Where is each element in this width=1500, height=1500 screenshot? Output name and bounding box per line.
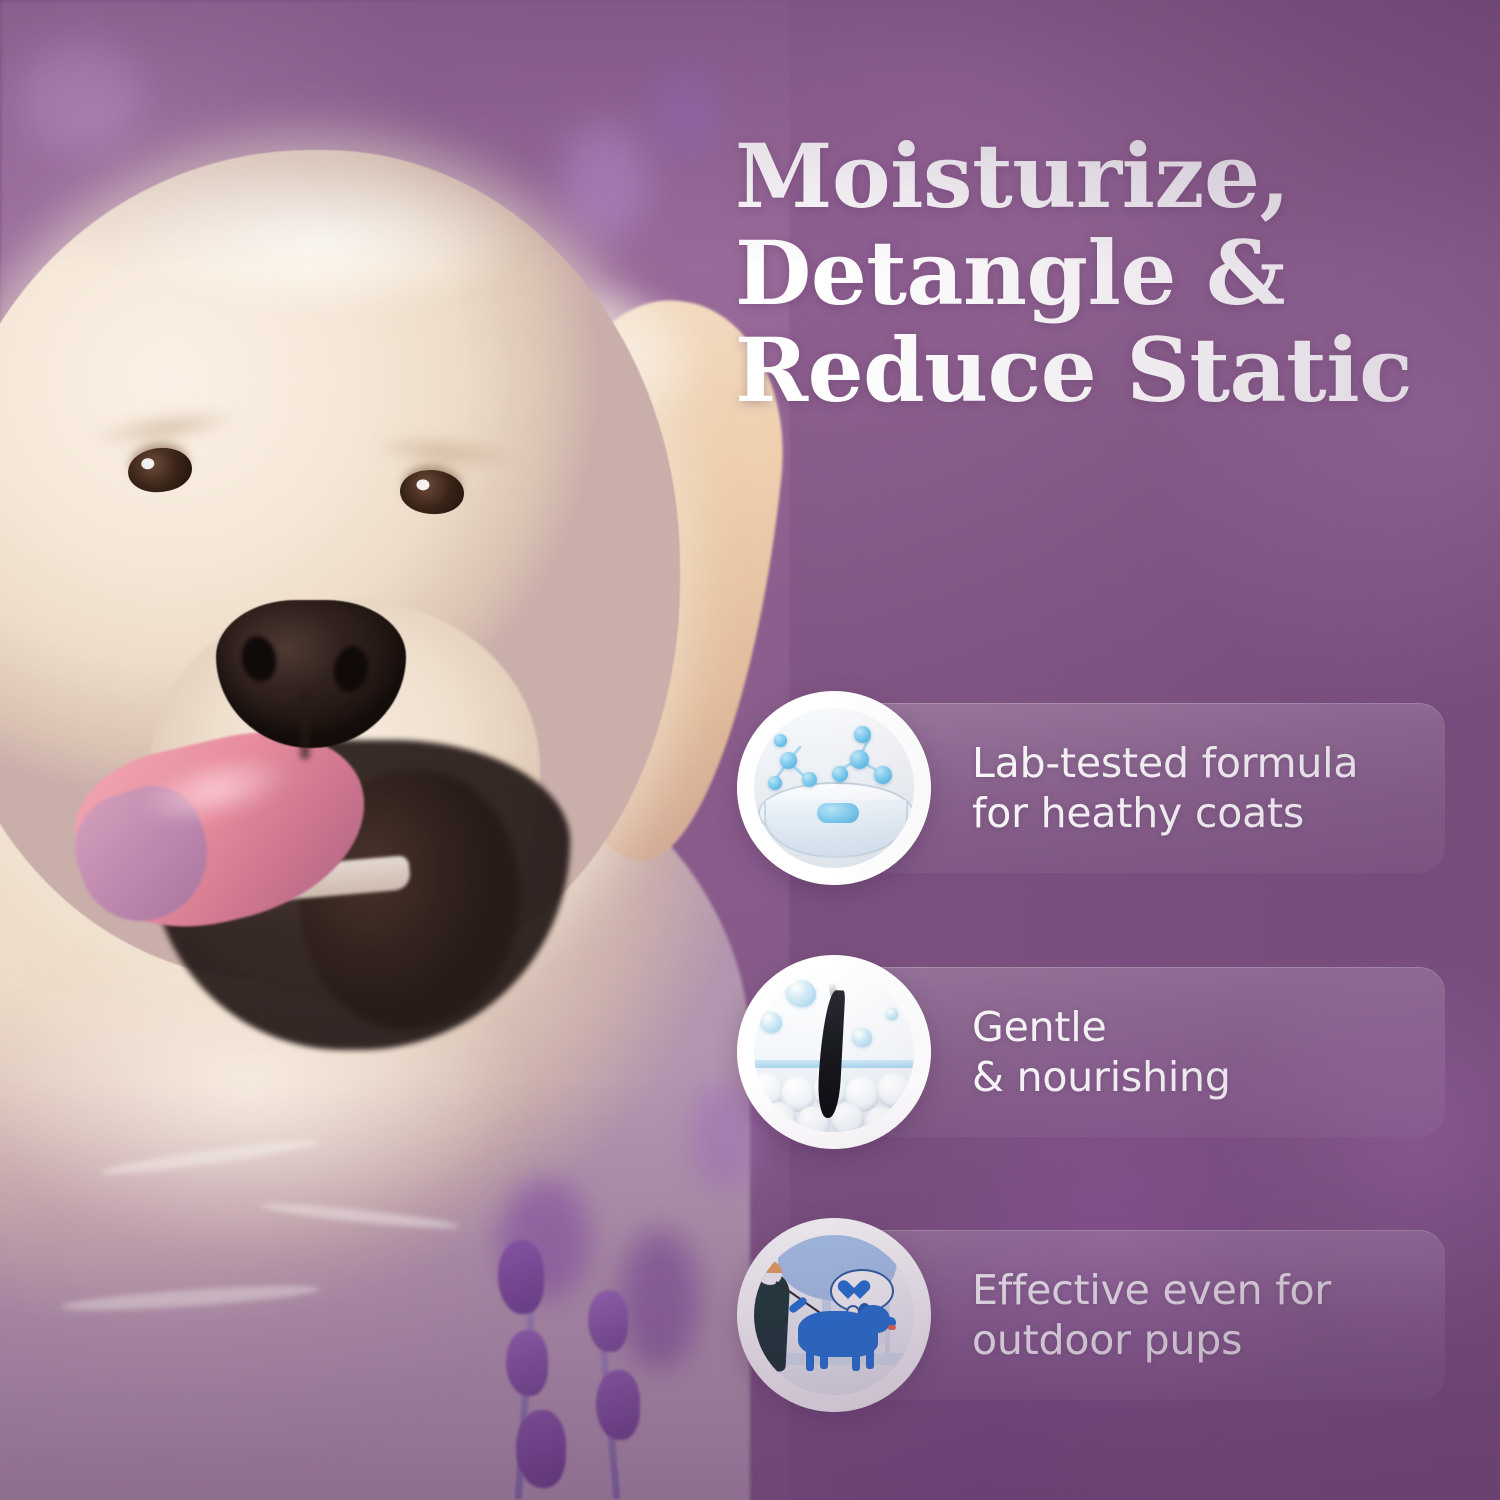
dog-illustration-leg [820, 1347, 828, 1369]
lavender-bud [506, 1330, 548, 1396]
feature-label: Lab-tested formula for heathy coats [972, 738, 1442, 838]
feature-label-line: for heathy coats [972, 788, 1442, 838]
molecule-atom [874, 766, 892, 784]
icon-artwork [754, 1235, 914, 1395]
petri-dish-molecule-icon [737, 691, 931, 885]
water-droplet [852, 1028, 872, 1047]
headline-line-3: Reduce Static [735, 322, 1495, 419]
water-droplet [786, 980, 816, 1007]
molecule-atom [774, 734, 787, 747]
page-title: Moisturize, Detangle & Reduce Static [735, 128, 1495, 418]
feature-label-line: outdoor pups [972, 1315, 1442, 1365]
icon-artwork [754, 708, 914, 868]
molecule-atom [780, 752, 797, 769]
dog-illustration-leg [852, 1347, 860, 1371]
dog-illustration-leg [866, 1347, 874, 1369]
dog-forehead-fur [30, 150, 630, 350]
lavender-bud [516, 1410, 566, 1488]
lavender-bud [588, 1290, 628, 1352]
heart-icon [848, 1281, 870, 1301]
icon-artwork [754, 972, 914, 1132]
person-walking-dog-icon [737, 1218, 931, 1412]
skin-cell [876, 1072, 912, 1108]
bokeh-flower [650, 60, 720, 160]
feature-item-gentle-nourishing: Gentle & nourishing [737, 967, 1445, 1137]
feature-label-line: Effective even for [972, 1265, 1442, 1315]
headline-line-2: Detangle & [735, 225, 1495, 322]
molecule-atom [850, 750, 869, 769]
feature-label-line: Lab-tested formula [972, 738, 1442, 788]
dog-nose-bridge [300, 690, 310, 760]
molecule-atom [802, 772, 817, 787]
hair-follicle-skin-icon [737, 955, 931, 1149]
lavender-bud [596, 1370, 640, 1440]
feature-label-line: & nourishing [972, 1052, 1442, 1102]
molecule-atom [832, 766, 848, 782]
lavender-bud [498, 1240, 544, 1314]
eye-glint [141, 458, 155, 470]
skin-cell [864, 1106, 898, 1132]
headline-line-1: Moisturize, [735, 128, 1495, 225]
dog-photo [0, 0, 790, 1500]
water-droplet [760, 1012, 782, 1033]
dog-illustration-tongue [888, 1325, 896, 1330]
feature-label: Gentle & nourishing [972, 1002, 1442, 1102]
person-body [754, 1270, 791, 1372]
water-droplet [886, 1008, 898, 1020]
feature-item-outdoor-pups: Effective even for outdoor pups [737, 1230, 1445, 1400]
feature-label: Effective even for outdoor pups [972, 1265, 1442, 1365]
skin-cell [762, 1102, 796, 1132]
dog-illustration-leg [806, 1347, 814, 1371]
molecule-atom [854, 726, 871, 743]
molecule-atom [768, 776, 782, 790]
blue-capsule [817, 803, 859, 823]
feature-label-line: Gentle [972, 1002, 1442, 1052]
product-marketing-poster: Moisturize, Detangle & Reduce Static [0, 0, 1500, 1500]
lavender-bokeh [620, 1230, 700, 1370]
eye-glint [416, 479, 430, 491]
bokeh-flower [20, 40, 140, 150]
feature-item-lab-tested: Lab-tested formula for heathy coats [737, 703, 1445, 873]
